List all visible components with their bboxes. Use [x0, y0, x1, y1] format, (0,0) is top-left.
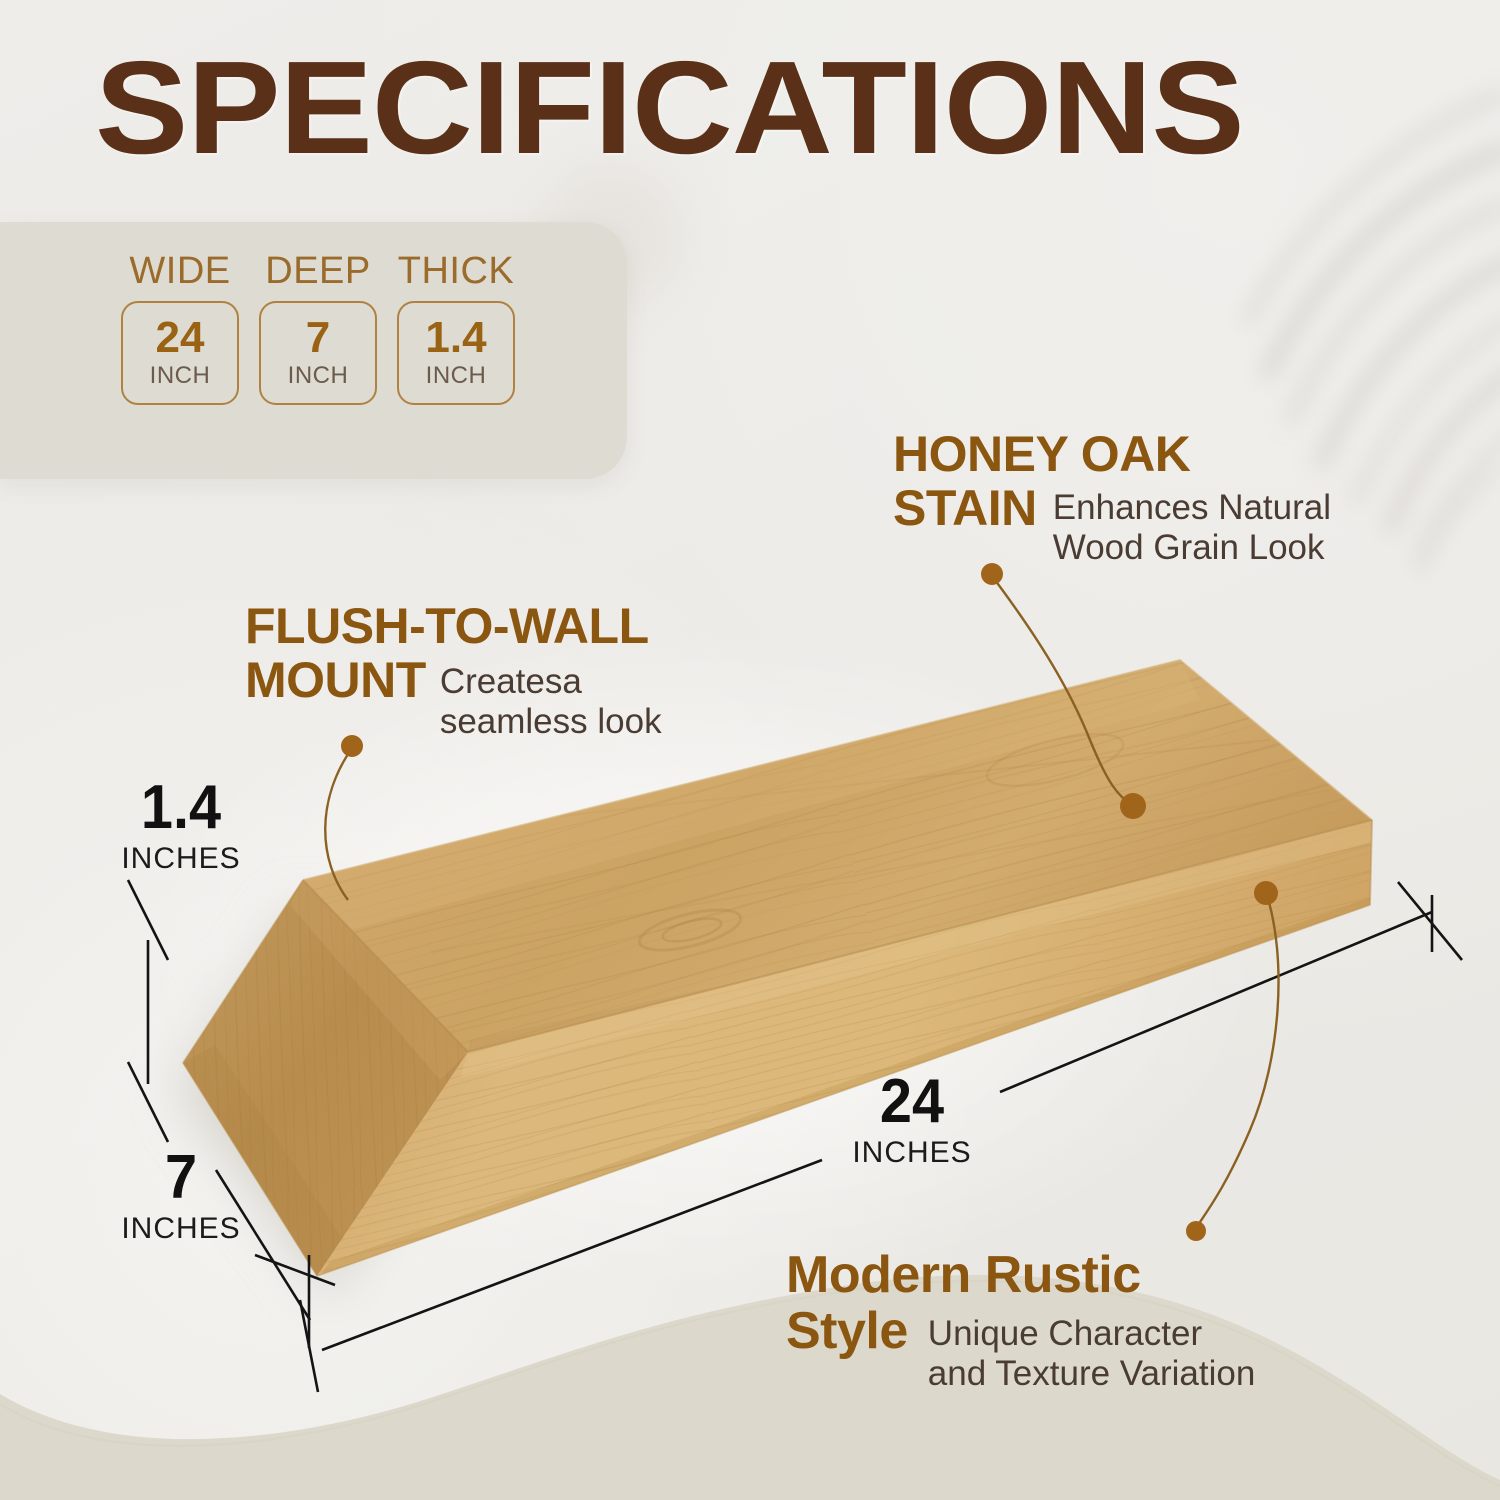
spec-item-wide: WIDE 24 INCH — [123, 250, 237, 405]
dimension-value-thickness: 1.4 — [111, 778, 251, 838]
callout-rustic-title-line1: Modern Rustic — [786, 1246, 1141, 1304]
callout-flush-title-line1: FLUSH-TO-WALL — [245, 598, 649, 654]
callout-flush-to-wall-mount: FLUSH-TO-WALL MOUNT Createsa seamless lo… — [245, 600, 662, 742]
spec-value-thick: 1.4 — [425, 316, 486, 360]
dimension-unit-depth: INCHES — [106, 1212, 256, 1246]
dimension-value-depth: 7 — [111, 1148, 251, 1208]
specifications-infographic: SPECIFICATIONS WIDE 24 INCH DEEP 7 INCH … — [0, 0, 1500, 1500]
callout-honey-oak-desc-line1: Enhances Natural — [1053, 488, 1331, 527]
callout-modern-rustic-style: Modern Rustic Style Unique Character and… — [786, 1248, 1255, 1394]
spec-box-deep: 7 INCH — [259, 301, 377, 405]
spec-value-deep: 7 — [306, 316, 330, 360]
spec-box-wide: 24 INCH — [121, 301, 239, 405]
spec-box-thick: 1.4 INCH — [397, 301, 515, 405]
callout-flush-desc: Createsa seamless look — [440, 662, 662, 742]
spec-panel: WIDE 24 INCH DEEP 7 INCH THICK 1.4 INCH — [0, 222, 627, 479]
callout-honey-oak-desc: Enhances Natural Wood Grain Look — [1053, 488, 1331, 568]
dimension-value-width: 24 — [838, 1072, 987, 1132]
dimension-label-depth: 7 INCHES — [106, 1148, 256, 1246]
callout-flush-desc-line2: seamless look — [440, 702, 662, 741]
callout-honey-oak-title-line1: HONEY OAK — [893, 428, 1331, 480]
dimension-label-thickness: 1.4 INCHES — [106, 778, 256, 876]
dimension-unit-width: INCHES — [832, 1136, 992, 1170]
spec-label-thick: THICK — [398, 250, 515, 293]
spec-label-wide: WIDE — [129, 250, 230, 293]
callout-flush-title-line2: MOUNT — [245, 654, 426, 706]
callout-rustic-desc: Unique Character and Texture Variation — [928, 1314, 1256, 1394]
callout-flush-desc-line1: Createsa — [440, 662, 582, 701]
dot-honey-oak-anchor — [1120, 793, 1146, 819]
callout-rustic-title-line2: Style — [786, 1304, 908, 1358]
spec-unit-thick: INCH — [426, 362, 487, 390]
callout-rustic-desc-line1: Unique Character — [928, 1314, 1202, 1353]
spec-value-wide: 24 — [156, 316, 205, 360]
dimension-label-width: 24 INCHES — [832, 1072, 992, 1170]
spec-unit-wide: INCH — [150, 362, 211, 390]
spec-unit-deep: INCH — [288, 362, 349, 390]
spec-item-list: WIDE 24 INCH DEEP 7 INCH THICK 1.4 INCH — [123, 250, 513, 405]
callout-honey-oak-stain: HONEY OAK STAIN Enhances Natural Wood Gr… — [893, 428, 1331, 568]
callout-honey-oak-title-line2: STAIN — [893, 482, 1037, 534]
spec-label-deep: DEEP — [265, 250, 370, 293]
callout-honey-oak-desc-line2: Wood Grain Look — [1053, 528, 1325, 567]
spec-item-deep: DEEP 7 INCH — [261, 250, 375, 405]
spec-item-thick: THICK 1.4 INCH — [399, 250, 513, 405]
page-title: SPECIFICATIONS — [95, 42, 1244, 174]
dot-modern-rustic-anchor — [1254, 881, 1278, 905]
dot-modern-rustic-end — [1186, 1221, 1206, 1241]
callout-rustic-desc-line2: and Texture Variation — [928, 1354, 1256, 1393]
dimension-unit-thickness: INCHES — [106, 842, 256, 876]
